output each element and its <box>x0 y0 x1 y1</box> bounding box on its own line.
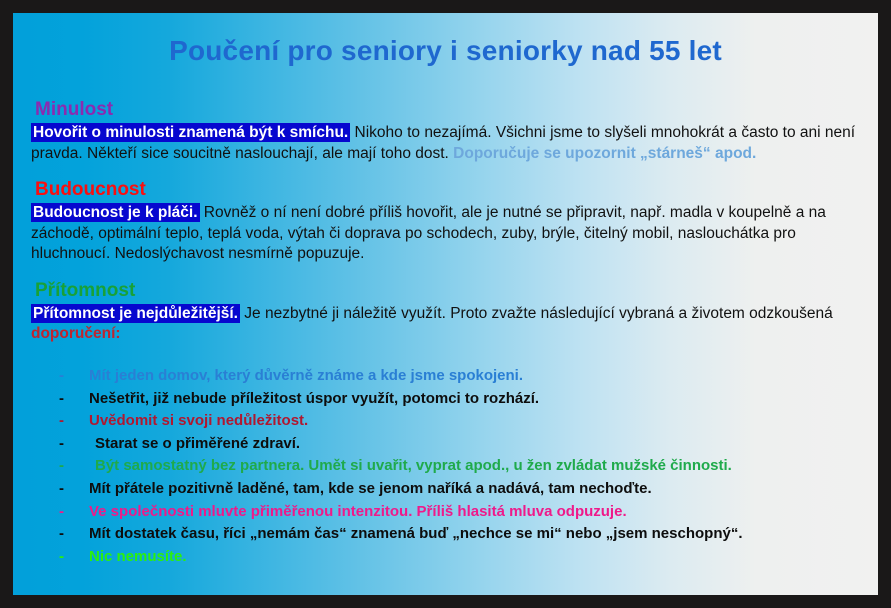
list-item-label: Mít přátele pozitivně laděné, tam, kde s… <box>89 478 859 501</box>
list-item: -Být samostatný bez partnera. Umět si uv… <box>59 455 859 478</box>
slide-body: Minulost Hovořit o minulosti znamená být… <box>31 98 869 347</box>
lead-phrase-budoucnost: Budoucnost je k pláči. <box>31 203 200 222</box>
section-text-minulost: Hovořit o minulosti znamená být k smíchu… <box>31 123 869 164</box>
list-item-label: Nešetřit, již nebude příležitost úspor v… <box>89 388 859 411</box>
page-title: Poučení pro seniory i seniorky nad 55 le… <box>13 35 878 67</box>
bullet-dash-icon: - <box>59 478 89 501</box>
section-text-pritomnost: Přítomnost je nejdůležitější. Je nezbytn… <box>31 304 869 345</box>
bullet-dash-icon: - <box>59 388 89 411</box>
section-pritomnost: Přítomnost Přítomnost je nejdůležitější.… <box>31 279 869 345</box>
list-item-label: Mít dostatek času, říci „nemám čas“ znam… <box>89 523 859 546</box>
list-item: -Nic nemusíte. <box>59 546 859 569</box>
slide-frame: Poučení pro seniory i seniorky nad 55 le… <box>0 0 891 608</box>
list-item-label: Nic nemusíte. <box>89 546 859 569</box>
bullet-dash-icon: - <box>59 410 89 433</box>
lead-phrase-pritomnost: Přítomnost je nejdůležitější. <box>31 304 240 323</box>
list-item-label: Ve společnosti mluvte přiměřenou intenzi… <box>89 501 859 524</box>
list-item: -Starat se o přiměřené zdraví. <box>59 433 859 456</box>
list-item-label: Být samostatný bez partnera. Umět si uva… <box>89 455 859 478</box>
list-item: -Uvědomit si svoji nedůležitost. <box>59 410 859 433</box>
list-item-label: Uvědomit si svoji nedůležitost. <box>89 410 859 433</box>
accent-text-minulost: Doporučuje se upozornit „stárneš“ apod. <box>453 145 756 162</box>
list-item: -Ve společnosti mluvte přiměřenou intenz… <box>59 501 859 524</box>
bullet-dash-icon: - <box>59 433 89 456</box>
bullet-dash-icon: - <box>59 365 89 388</box>
section-heading-budoucnost: Budoucnost <box>35 178 869 202</box>
bullet-dash-icon: - <box>59 501 89 524</box>
section-heading-pritomnost: Přítomnost <box>35 279 869 303</box>
lead-phrase-minulost: Hovořit o minulosti znamená být k smíchu… <box>31 123 350 142</box>
section-minulost: Minulost Hovořit o minulosti znamená být… <box>31 98 869 164</box>
list-item: -Mít dostatek času, říci „nemám čas“ zna… <box>59 523 859 546</box>
bullet-dash-icon: - <box>59 455 89 478</box>
list-item-label: Starat se o přiměřené zdraví. <box>89 433 859 456</box>
list-item: -Nešetřit, již nebude příležitost úspor … <box>59 388 859 411</box>
bullet-dash-icon: - <box>59 523 89 546</box>
list-item: -Mít jeden domov, který důvěrně známe a … <box>59 365 859 388</box>
section-text-budoucnost: Budoucnost je k pláči. Rovněž o ní není … <box>31 203 869 265</box>
slide-canvas: Poučení pro seniory i seniorky nad 55 le… <box>13 13 878 595</box>
bullet-dash-icon: - <box>59 546 89 569</box>
section-heading-minulost: Minulost <box>35 98 869 122</box>
list-item: -Mít přátele pozitivně laděné, tam, kde … <box>59 478 859 501</box>
recommendations-list: -Mít jeden domov, který důvěrně známe a … <box>59 365 859 568</box>
section-budoucnost: Budoucnost Budoucnost je k pláči. Rovněž… <box>31 178 869 265</box>
body-text-pritomnost: Je nezbytné ji náležitě využít. Proto zv… <box>240 305 833 322</box>
recommendations-label: doporučení: <box>31 325 121 342</box>
list-item-label: Mít jeden domov, který důvěrně známe a k… <box>89 365 859 388</box>
